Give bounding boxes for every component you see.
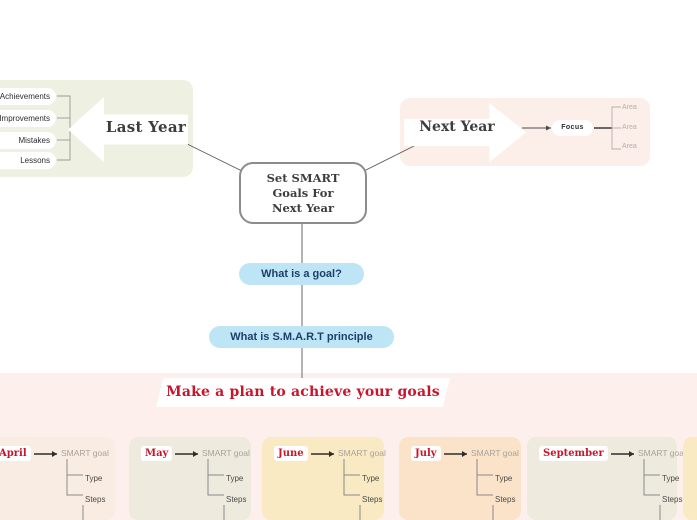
- plan-banner-label: Make a plan to achieve your goals: [156, 384, 450, 400]
- sub-label-type[interactable]: Type: [226, 474, 243, 483]
- center-node-label: Set SMART Goals For Next Year: [267, 171, 340, 216]
- what-is-smart-principle-node[interactable]: What is S.M.A.R.T principle: [209, 326, 394, 348]
- month-card[interactable]: JuneSMART goalTypeSteps: [262, 437, 384, 520]
- next-year-area-3[interactable]: Area: [622, 143, 637, 150]
- month-chip[interactable]: April: [0, 446, 31, 461]
- sub-label-steps[interactable]: Steps: [362, 495, 382, 504]
- what-is-a-goal-node[interactable]: What is a goal?: [239, 263, 364, 285]
- sub-label-type[interactable]: Type: [85, 474, 102, 483]
- sub-label-steps[interactable]: Steps: [495, 495, 515, 504]
- last-year-item-mistakes[interactable]: Mistakes: [0, 132, 56, 149]
- last-year-item-lessons[interactable]: Lessons: [0, 152, 56, 169]
- last-year-title: Last Year: [100, 118, 192, 136]
- month-card[interactable]: JulySMART goalTypeSteps: [399, 437, 521, 520]
- next-year-area-2[interactable]: Area: [622, 124, 637, 131]
- month-chip[interactable]: July: [411, 446, 441, 461]
- next-year-area-1[interactable]: Area: [622, 104, 637, 111]
- last-year-item-achievements[interactable]: Achievements: [0, 88, 56, 105]
- smart-goal-label[interactable]: SMART goal: [338, 448, 386, 458]
- month-chip[interactable]: September: [539, 446, 608, 461]
- month-card[interactable]: MaySMART goalTypeSteps: [129, 437, 251, 520]
- sub-label-steps[interactable]: Steps: [662, 495, 682, 504]
- month-chip[interactable]: May: [141, 446, 172, 461]
- month-card[interactable]: [683, 437, 697, 520]
- center-node[interactable]: Set SMART Goals For Next Year: [239, 162, 367, 224]
- month-card[interactable]: SeptemberSMART goalTypeSteps: [527, 437, 677, 520]
- smart-goal-label[interactable]: SMART goal: [638, 448, 686, 458]
- next-year-title: Next Year: [408, 119, 506, 135]
- focus-node[interactable]: Focus: [552, 120, 593, 136]
- smart-goal-label[interactable]: SMART goal: [471, 448, 519, 458]
- mindmap-canvas: Achievements Improvements Mistakes Lesso…: [0, 0, 697, 520]
- smart-goal-label[interactable]: SMART goal: [61, 448, 109, 458]
- month-chip[interactable]: June: [274, 446, 308, 461]
- sub-label-type[interactable]: Type: [495, 474, 512, 483]
- smart-goal-label[interactable]: SMART goal: [202, 448, 250, 458]
- sub-label-type[interactable]: Type: [662, 474, 679, 483]
- sub-label-steps[interactable]: Steps: [226, 495, 246, 504]
- month-card[interactable]: AprilSMART goalTypeSteps: [0, 437, 115, 520]
- last-year-item-improvements[interactable]: Improvements: [0, 110, 56, 127]
- sub-label-type[interactable]: Type: [362, 474, 379, 483]
- sub-label-steps[interactable]: Steps: [85, 495, 105, 504]
